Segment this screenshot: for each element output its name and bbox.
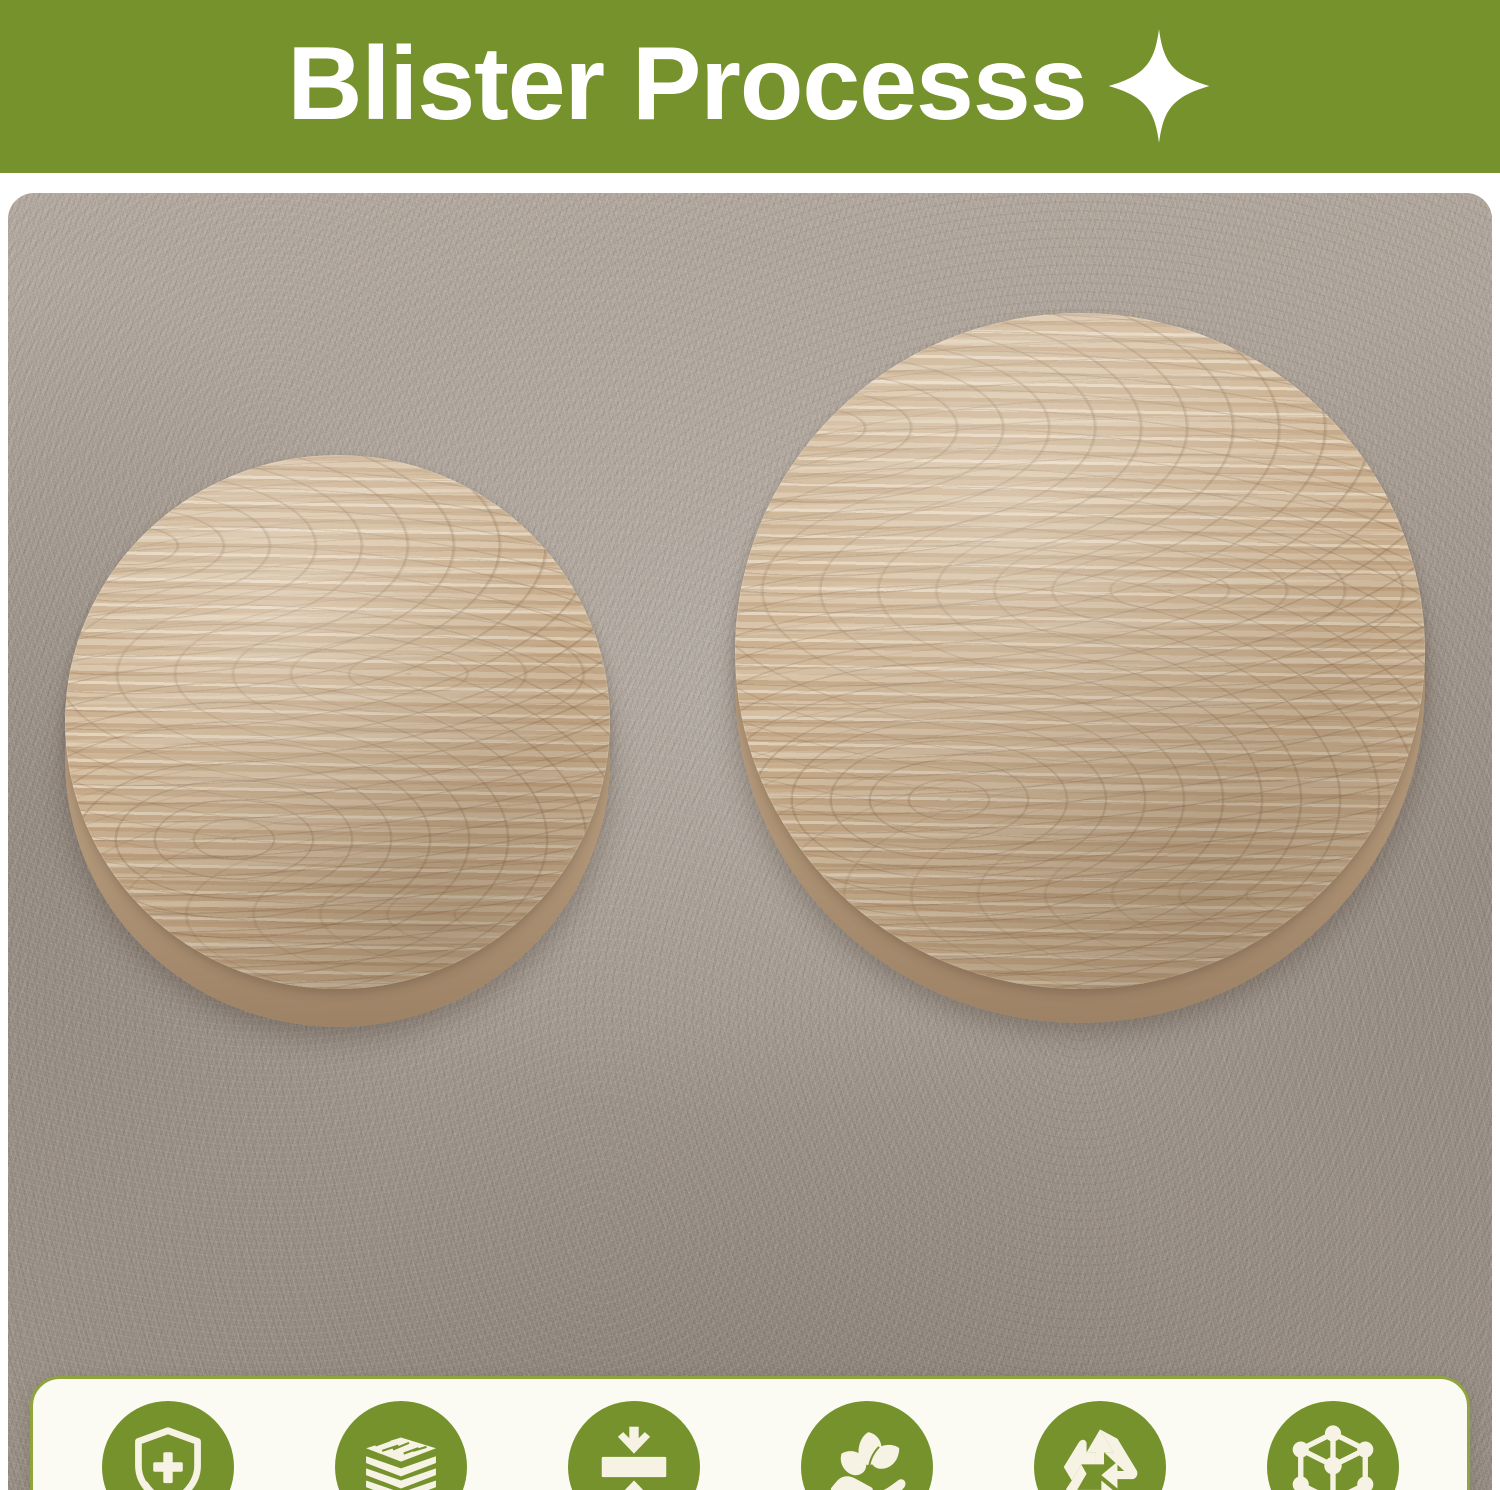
small-table-top <box>65 455 610 989</box>
feature-item-stackable: Stackable <box>517 1401 750 1490</box>
feature-item-density-board: Density Board <box>284 1401 517 1490</box>
small-round-table <box>65 455 625 1027</box>
large-round-table <box>735 313 1435 1023</box>
feature-badge <box>1267 1401 1399 1490</box>
travertine-shading <box>735 313 1425 989</box>
feature-badge <box>102 1401 234 1490</box>
compress-arrows-icon <box>591 1424 677 1490</box>
hand-leaf-icon <box>824 1424 910 1490</box>
layered-boards-icon <box>358 1424 444 1490</box>
feature-badge <box>1034 1401 1166 1490</box>
header-banner: Blister Processs <box>0 0 1500 173</box>
feature-highlights-card: Textured Surface Density <box>30 1376 1470 1490</box>
product-photo: Textured Surface Density <box>0 173 1500 1490</box>
feature-badge <box>801 1401 933 1490</box>
shield-plus-icon <box>125 1424 211 1490</box>
feature-item-safe-stable: Safe Stable <box>983 1401 1216 1490</box>
recycle-icon <box>1057 1424 1143 1490</box>
feature-item-sturdy-durable: Sturdy Durable <box>1216 1401 1449 1490</box>
feature-badge <box>335 1401 467 1490</box>
carpet-background <box>8 193 1492 1490</box>
sparkle-four-point-star-icon <box>1105 27 1213 145</box>
page-title: Blister Processs <box>287 32 1086 136</box>
header-inner: Blister Processs <box>287 25 1212 143</box>
feature-item-textured-surface: Textured Surface <box>51 1401 284 1490</box>
feature-item-no-odor: No Odor <box>750 1401 983 1490</box>
feature-badge <box>568 1401 700 1490</box>
large-table-top <box>735 313 1425 989</box>
travertine-shading <box>65 455 610 989</box>
molecule-cube-icon <box>1290 1424 1376 1490</box>
